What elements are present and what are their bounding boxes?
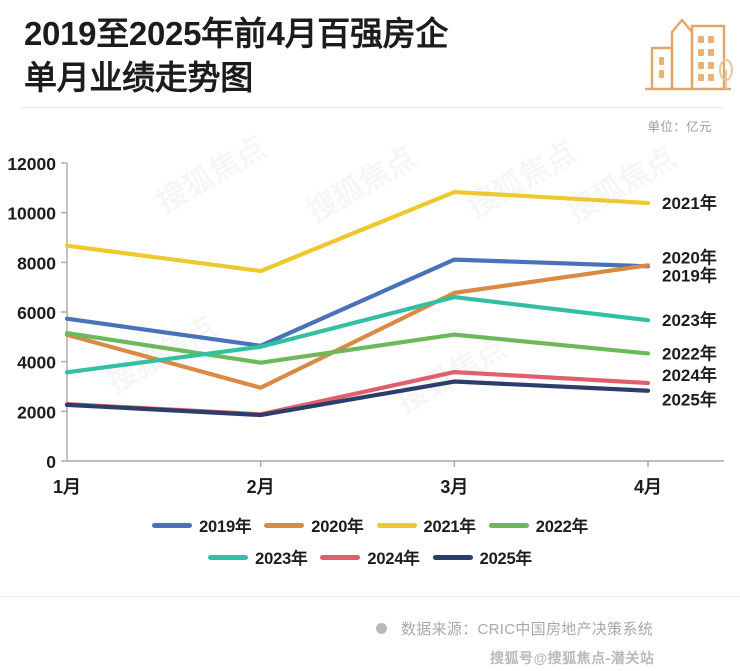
- city-buildings-icon: [642, 12, 734, 96]
- line-chart: 020004000600080001000012000 1月2月3月4月 201…: [0, 140, 740, 505]
- channel-watermark: 搜狐号@搜狐焦点-潜关站: [490, 648, 654, 668]
- legend-label: 2021年: [424, 513, 476, 537]
- series-end-labels: 2019年2020年2021年2022年2023年2024年2025年: [662, 193, 717, 410]
- legend-item-2021年[interactable]: 2021年: [377, 512, 476, 538]
- x-tick-label: 3月: [440, 477, 468, 497]
- legend-item-2025年[interactable]: 2025年: [433, 544, 532, 570]
- y-tick-label: 2000: [17, 402, 56, 422]
- series-end-label-2019年: 2019年: [662, 265, 717, 285]
- legend-item-2024年[interactable]: 2024年: [320, 544, 419, 570]
- y-axis-tick-labels: 020004000600080001000012000: [7, 154, 56, 472]
- y-tick-label: 4000: [17, 353, 56, 373]
- infographic-page: 2019至2025年前4月百强房企 单月业绩走势图: [0, 0, 740, 671]
- series-line-2023年: [67, 297, 648, 372]
- data-source-text: 数据来源：CRIC中国房地产决策系统: [401, 618, 653, 639]
- legend-swatch-icon: [264, 523, 304, 528]
- footer-divider: [0, 596, 740, 597]
- legend-swatch-icon: [208, 555, 248, 560]
- page-title: 2019至2025年前4月百强房企 单月业绩走势图: [24, 12, 624, 99]
- legend-item-2023年[interactable]: 2023年: [208, 544, 307, 570]
- legend-label: 2023年: [255, 545, 307, 569]
- legend-swatch-icon: [377, 523, 417, 528]
- legend-item-2022年[interactable]: 2022年: [489, 512, 588, 538]
- series-line-2019年: [67, 260, 648, 346]
- legend-label: 2024年: [367, 545, 419, 569]
- legend-label: 2025年: [480, 545, 532, 569]
- x-axis-tick-labels: 1月2月3月4月: [53, 477, 662, 497]
- data-source: 数据来源：CRIC中国房地产决策系统: [376, 618, 653, 639]
- y-tick-label: 6000: [17, 303, 56, 323]
- series-line-2025年: [67, 382, 648, 416]
- y-tick-label: 12000: [7, 154, 56, 174]
- legend-swatch-icon: [489, 523, 529, 528]
- series-end-label-2020年: 2020年: [662, 247, 717, 267]
- legend-label: 2022年: [536, 513, 588, 537]
- y-tick-label: 10000: [7, 204, 56, 224]
- bullet-icon: [376, 623, 387, 634]
- legend-swatch-icon: [320, 555, 360, 560]
- x-tick-label: 1月: [53, 477, 81, 497]
- legend-item-2019年[interactable]: 2019年: [152, 512, 251, 538]
- legend-swatch-icon: [152, 523, 192, 528]
- x-tick-label: 2月: [247, 477, 275, 497]
- unit-label: 单位：亿元: [647, 116, 712, 135]
- header-divider: [22, 107, 722, 108]
- legend-label: 2020年: [311, 513, 363, 537]
- x-tick-label: 4月: [634, 477, 662, 497]
- series-end-label-2025年: 2025年: [662, 390, 717, 410]
- series-end-label-2021年: 2021年: [662, 193, 717, 213]
- legend-swatch-icon: [433, 555, 473, 560]
- legend-item-2020年[interactable]: 2020年: [264, 512, 363, 538]
- legend-label: 2019年: [199, 513, 251, 537]
- header: 2019至2025年前4月百强房企 单月业绩走势图: [0, 0, 740, 108]
- y-tick-label: 0: [46, 452, 56, 472]
- series-line-2020年: [67, 265, 648, 387]
- y-tick-label: 8000: [17, 253, 56, 273]
- series-line-2021年: [67, 192, 648, 271]
- series-end-label-2024年: 2024年: [662, 365, 717, 385]
- chart-series-lines: [67, 192, 648, 415]
- chart-legend: 2019年2020年2021年2022年2023年2024年2025年: [0, 512, 740, 570]
- series-end-label-2023年: 2023年: [662, 310, 717, 330]
- series-end-label-2022年: 2022年: [662, 343, 717, 363]
